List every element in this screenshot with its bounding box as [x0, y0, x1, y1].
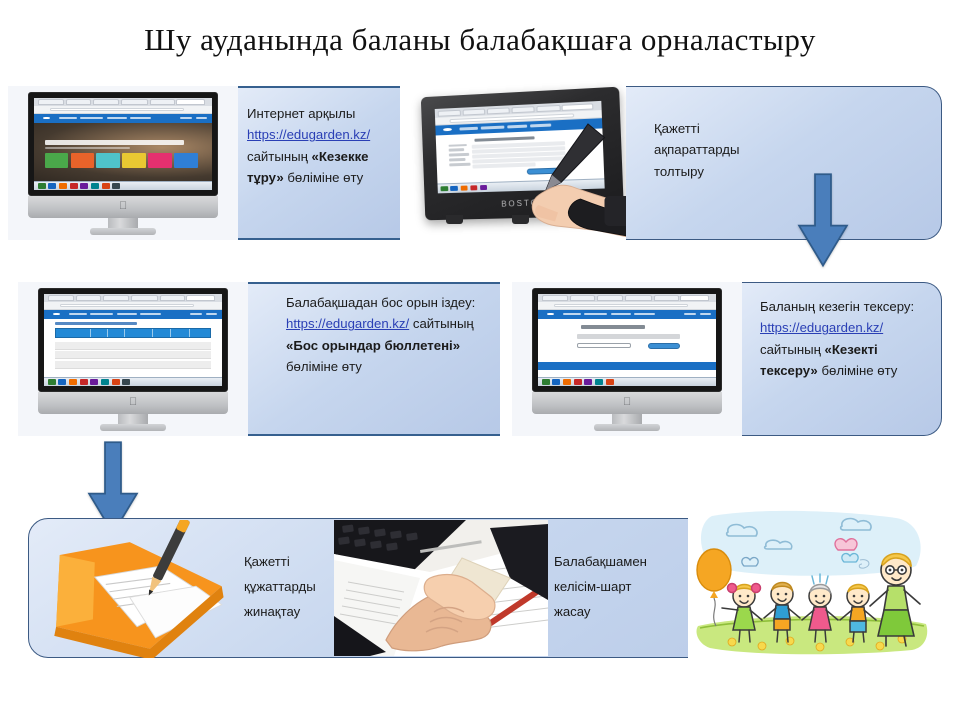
step-5-line-3: жинақтау — [244, 599, 344, 624]
step-1-text: Интернет арқылы https://edugarden.kz/ са… — [247, 103, 395, 189]
step-3-text: Балабақшадан бос орын іздеу: https://edu… — [286, 292, 476, 378]
browser-tabstrip-3 — [538, 294, 716, 302]
browser-addressbar-3 — [538, 302, 716, 309]
step-3-tail: бөліміне өту — [286, 359, 362, 374]
queue-check-input[interactable] — [577, 343, 630, 348]
step-4-link[interactable]: https://edugarden.kz/ — [760, 320, 883, 335]
browser-tabstrip-2 — [44, 294, 222, 302]
apple-logo-icon:  — [119, 201, 127, 212]
step-4-lead-1: Баланың кезегін — [760, 299, 860, 314]
site-navbar-3 — [538, 310, 716, 319]
step-3-lead-1: Балабақшадан бос — [286, 295, 403, 310]
step-4-mid: сайтының — [760, 342, 825, 357]
os-taskbar — [34, 181, 212, 190]
site-navbar-2 — [44, 310, 222, 319]
os-taskbar-2 — [44, 377, 222, 386]
step-3-lead-2: орын іздеу: — [406, 295, 475, 310]
flowchart-page: Шу ауданында баланы балабақшаға орналаст… — [0, 0, 960, 720]
browser-addressbar-2 — [44, 302, 222, 309]
apple-logo-icon-2:  — [129, 397, 137, 408]
imac-edugarden-home:  — [28, 92, 218, 234]
children-playing-illustration — [688, 508, 936, 660]
handshake-contract-photo — [334, 520, 548, 656]
step-1-link[interactable]: https://edugarden.kz/ — [247, 127, 370, 142]
step-6-line-3: жасау — [554, 599, 684, 624]
step-6-line-1: Балабақшамен — [554, 549, 684, 574]
page-title: Шу ауданында баланы балабақшаға орналаст… — [0, 22, 960, 58]
queue-check-button[interactable] — [648, 343, 680, 349]
imac-queue-check:  — [532, 288, 722, 430]
browser-addressbar — [34, 106, 212, 113]
os-taskbar-3 — [538, 377, 716, 386]
site-hero-banner — [34, 123, 212, 181]
tablet-screen — [435, 100, 605, 192]
orange-folder-documents-icon — [40, 520, 236, 658]
step-5-line-1: Қажетті — [244, 549, 344, 574]
bosto-tablet-form: BOSTO — [420, 92, 620, 218]
vacancy-bulletin-table — [44, 319, 222, 377]
step-1-mid: сайтының — [247, 149, 312, 164]
arrow-row1-to-row2 — [792, 162, 854, 284]
step-4-text: Баланың кезегін тексеру: https://edugard… — [760, 296, 932, 382]
apple-logo-icon-3:  — [623, 397, 631, 408]
site-navbar — [34, 114, 212, 123]
step-2-line-2: ақпараттарды — [654, 139, 814, 160]
step-1-tail: бөліміне өту — [284, 170, 364, 185]
step-1-lead: Интернет арқылы — [247, 106, 355, 121]
site-service-tiles — [45, 153, 198, 168]
step-4-tail: бөліміне өту — [818, 363, 898, 378]
registration-form — [436, 128, 605, 184]
step-2-line-3: толтыру — [654, 161, 814, 182]
step-6-text: Балабақшамен келісім-шарт жасау — [554, 549, 684, 624]
step-2-text: Қажетті ақпараттарды толтыру — [654, 118, 814, 182]
step-2-line-1: Қажетті — [654, 118, 814, 139]
queue-check-form — [538, 319, 716, 377]
step-5-text: Қажетті құжаттарды жинақтау — [244, 549, 344, 624]
step-5-line-2: құжаттарды — [244, 574, 344, 599]
step-4-lead-2: тексеру: — [864, 299, 915, 314]
browser-tabstrip — [34, 98, 212, 106]
step-3-link[interactable]: https://edugarden.kz/ — [286, 316, 409, 331]
step-6-line-2: келісім-шарт — [554, 574, 684, 599]
step-3-bold: «Бос орындар бюллетені» — [286, 338, 460, 353]
step-3-mid: сайтының — [413, 316, 474, 331]
imac-vacancy-table:  — [38, 288, 228, 430]
